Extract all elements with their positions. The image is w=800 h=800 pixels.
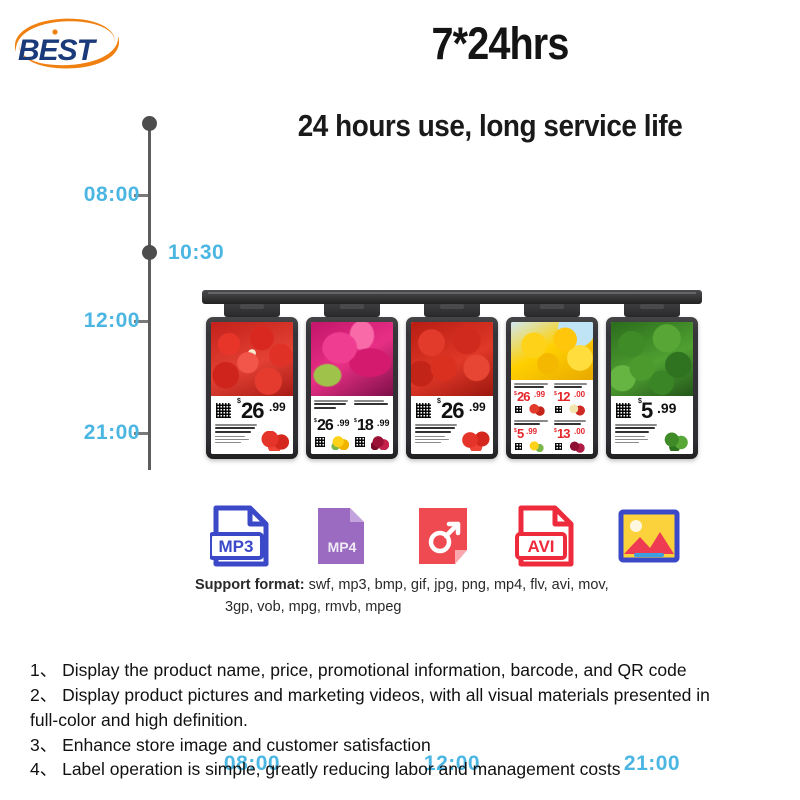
display-bracket xyxy=(324,304,380,317)
display-bezel: $ 5 .99 xyxy=(606,317,698,459)
price-label: $ 26 .99 xyxy=(411,396,493,454)
display-bracket xyxy=(524,304,580,317)
timeline-dot-1030 xyxy=(142,245,157,260)
display-screen: $ 26 .99 xyxy=(211,322,293,454)
support-format-line2: 3gp, vob, mpg, rmvb, mpeg xyxy=(195,596,715,618)
image-file-icon[interactable] xyxy=(618,504,690,570)
mp4-file-icon[interactable]: MP4 xyxy=(312,504,384,570)
dragonfruit-display[interactable]: $ 26 .99 $ 18 .99 xyxy=(306,304,398,459)
display-screen: $ 26 .99 $ 12 .00 xyxy=(511,322,593,454)
page-subtitle: 24 hours use, long service life xyxy=(211,108,769,144)
svg-text:MP3: MP3 xyxy=(219,537,254,556)
promo-price-1-cents: .99 xyxy=(534,390,545,399)
avi-file-icon[interactable]: AVI xyxy=(515,504,587,570)
svg-text:BEST: BEST xyxy=(18,34,98,67)
price-integer-left: 26 xyxy=(317,418,333,434)
promo-price-4-int: 13 xyxy=(557,427,569,440)
feature-list-item-1: 1、 Display the product name, price, prom… xyxy=(30,658,780,683)
product-photo-strawberry xyxy=(211,322,293,396)
product-description xyxy=(215,424,259,445)
qr-code xyxy=(215,402,232,419)
timeline-label-0800: 08:00 xyxy=(84,183,140,207)
support-format-line1: swf, mp3, bmp, gif, jpg, png, mp4, flv, … xyxy=(305,577,609,593)
shelf-rail-group: $ 26 .99 xyxy=(202,290,702,470)
support-format-text: Support format: swf, mp3, bmp, gif, jpg,… xyxy=(195,574,715,619)
product-photo-lemon xyxy=(511,322,593,380)
display-screen: $ 26 .99 xyxy=(411,322,493,454)
product-photo-dragonfruit xyxy=(311,322,393,396)
product-thumbnail-left xyxy=(331,435,349,450)
price-cents: .99 xyxy=(469,400,486,414)
tomato-display[interactable]: $ 26 .99 xyxy=(406,304,498,459)
brand-logo: BEST xyxy=(8,14,126,74)
promo-thumb-4 xyxy=(567,440,585,453)
qr-code xyxy=(415,402,432,419)
promo-grid: $ 26 .99 $ 12 .00 xyxy=(511,380,593,454)
feature-list-item-3: 3、 Enhance store image and customer sati… xyxy=(30,733,780,758)
media-file-icon[interactable] xyxy=(413,504,485,570)
display-bezel: $ 26 .99 xyxy=(206,317,298,459)
timeline-label-2100: 21:00 xyxy=(84,421,140,445)
product-description-right xyxy=(354,400,390,407)
display-bezel: $ 26 .99 $ 12 .00 xyxy=(506,317,598,459)
promo-price-4-cents: .00 xyxy=(574,427,585,436)
price-label: $ 26 .99 $ 18 .99 xyxy=(311,396,393,454)
timeline-dot-top xyxy=(142,116,157,131)
shelf-rail xyxy=(202,290,702,304)
support-format-prefix: Support format: xyxy=(195,577,305,593)
display-screen: $ 26 .99 $ 18 .99 xyxy=(311,322,393,454)
poster-canvas: BEST 7*24hrs 24 hours use, long service … xyxy=(0,0,800,800)
display-bracket xyxy=(224,304,280,317)
promo-price-3-int: 5 xyxy=(517,427,523,440)
product-thumbnail xyxy=(261,431,291,451)
price-label: $ 26 .99 xyxy=(211,396,293,454)
price-label: $ 5 .99 xyxy=(611,396,693,454)
lemon-display[interactable]: $ 26 .99 $ 12 .00 xyxy=(506,304,598,459)
price-cents-left: .99 xyxy=(337,418,350,428)
price-cents: .99 xyxy=(657,400,676,416)
qr-code xyxy=(615,402,632,419)
product-thumbnail xyxy=(662,432,690,451)
display-bracket xyxy=(424,304,480,317)
qr-code-2 xyxy=(554,405,563,414)
qr-code-1 xyxy=(514,405,523,414)
display-bracket xyxy=(624,304,680,317)
product-description xyxy=(415,424,459,445)
mp3-file-icon[interactable]: MP3 xyxy=(210,504,282,570)
display-screen: $ 5 .99 xyxy=(611,322,693,454)
product-description xyxy=(615,424,659,445)
timeline-label-1200: 12:00 xyxy=(84,309,140,333)
best-logo-icon: BEST xyxy=(8,14,126,74)
qr-code-3 xyxy=(514,442,523,451)
timeline-axis xyxy=(148,122,151,470)
product-thumbnail xyxy=(461,431,491,451)
price-integer: 26 xyxy=(241,400,263,422)
qr-code-right xyxy=(354,436,366,448)
promo-price-2-cents: .00 xyxy=(574,390,585,399)
qr-code-left xyxy=(314,436,326,448)
product-photo-tomato xyxy=(411,322,493,396)
timeline-label-1030: 10:30 xyxy=(168,241,224,265)
svg-text:MP4: MP4 xyxy=(328,539,357,555)
promo-price-1-int: 26 xyxy=(517,390,529,403)
promo-thumb-1 xyxy=(527,403,545,416)
product-description-left xyxy=(314,400,350,410)
promo-price-2-int: 12 xyxy=(557,390,569,403)
promo-price-3-cents: .99 xyxy=(526,427,537,436)
price-integer-right: 18 xyxy=(357,418,373,434)
supported-format-icons: MP3 MP4 AVI xyxy=(200,504,700,570)
feature-list-item-4: 4、 Label operation is simple, greatly re… xyxy=(30,757,780,782)
price-integer: 5 xyxy=(641,400,652,422)
price-integer: 26 xyxy=(441,400,463,422)
qr-code-4 xyxy=(554,442,563,451)
feature-list: 1、 Display the product name, price, prom… xyxy=(30,658,780,782)
strawberry-display[interactable]: $ 26 .99 xyxy=(206,304,298,459)
product-photo-broccoli xyxy=(611,322,693,396)
promo-thumb-3 xyxy=(527,440,545,453)
feature-list-item-2: 2、 Display product pictures and marketin… xyxy=(30,683,780,733)
display-bezel: $ 26 .99 $ 18 .99 xyxy=(306,317,398,459)
price-cents: .99 xyxy=(269,400,286,414)
product-thumbnail-right xyxy=(371,435,389,450)
page-title: 7*24hrs xyxy=(236,18,764,70)
svg-text:AVI: AVI xyxy=(527,537,554,556)
display-bezel: $ 26 .99 xyxy=(406,317,498,459)
broccoli-display[interactable]: $ 5 .99 xyxy=(606,304,698,459)
promo-thumb-2 xyxy=(567,403,585,416)
price-cents-right: .99 xyxy=(377,418,390,428)
